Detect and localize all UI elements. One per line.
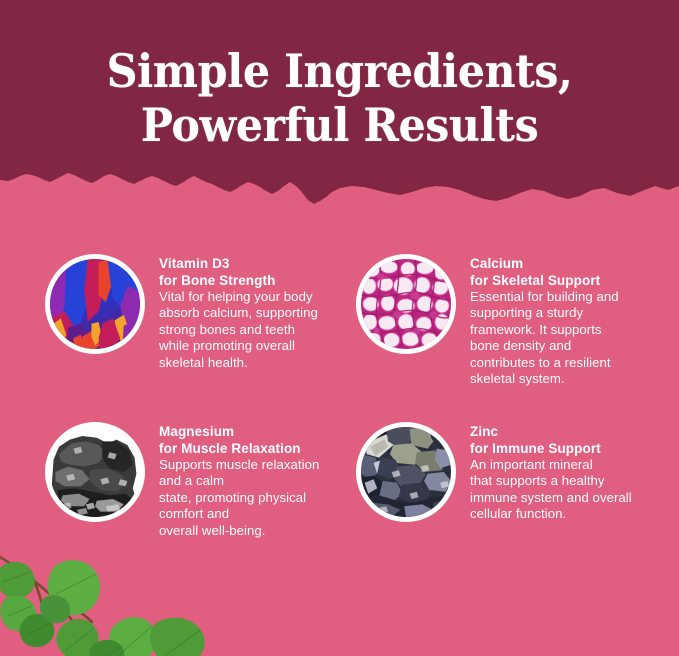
ingredient-name: Vitamin D3	[159, 256, 318, 273]
ingredient-card-zinc: Zinc for Immune Support An important min…	[356, 422, 661, 523]
ingredient-text-block: Zinc for Immune Support An important min…	[470, 422, 632, 523]
ingredient-description: Vital for helping your body absorb calci…	[159, 289, 318, 371]
leaf-shapes	[0, 560, 204, 656]
ingredient-purpose: for Muscle Relaxation	[159, 441, 319, 458]
leaf-branch-stems	[0, 554, 168, 648]
ingredient-description: Essential for building and supporting a …	[470, 289, 619, 387]
ingredient-name: Calcium	[470, 256, 619, 273]
ingredient-description: Supports muscle relaxation and a calm st…	[159, 457, 319, 539]
ingredient-thumb-ring	[45, 254, 145, 354]
ingredient-text-block: Vitamin D3 for Bone Strength Vital for h…	[159, 254, 318, 371]
ingredient-thumb-ring	[356, 422, 456, 522]
ingredient-name: Magnesium	[159, 424, 319, 441]
ingredient-card-vitamin-d3: Vitamin D3 for Bone Strength Vital for h…	[45, 254, 345, 371]
ingredient-purpose: for Bone Strength	[159, 273, 318, 290]
ingredients-grid: Vitamin D3 for Bone Strength Vital for h…	[0, 226, 679, 556]
ingredient-text-block: Calcium for Skeletal Support Essential f…	[470, 254, 619, 387]
zinc-mineral-crystals-image	[361, 427, 451, 517]
magnesium-mineral-rock-image	[50, 427, 140, 517]
page-title-line-2: Powerful Results	[24, 98, 655, 152]
vitamin-d3-abstract-crystal-image	[50, 259, 140, 349]
calcium-microscopy-cells-image	[361, 259, 451, 349]
header-band: Simple Ingredients, Powerful Results	[0, 0, 679, 226]
ingredient-text-block: Magnesium for Muscle Relaxation Supports…	[159, 422, 319, 539]
page-title: Simple Ingredients, Powerful Results	[24, 44, 655, 152]
ingredient-card-calcium: Calcium for Skeletal Support Essential f…	[356, 254, 661, 387]
ingredient-thumb-ring	[356, 254, 456, 354]
page-title-line-1: Simple Ingredients,	[24, 44, 655, 98]
ingredient-description: An important mineral that supports a hea…	[470, 457, 632, 523]
ingredient-purpose: for Skeletal Support	[470, 273, 619, 290]
leaf-veins	[2, 572, 200, 656]
ingredient-card-magnesium: Magnesium for Muscle Relaxation Supports…	[45, 422, 345, 539]
ingredient-thumb-ring	[45, 422, 145, 522]
ingredient-name: Zinc	[470, 424, 632, 441]
ingredient-purpose: for Immune Support	[470, 441, 632, 458]
